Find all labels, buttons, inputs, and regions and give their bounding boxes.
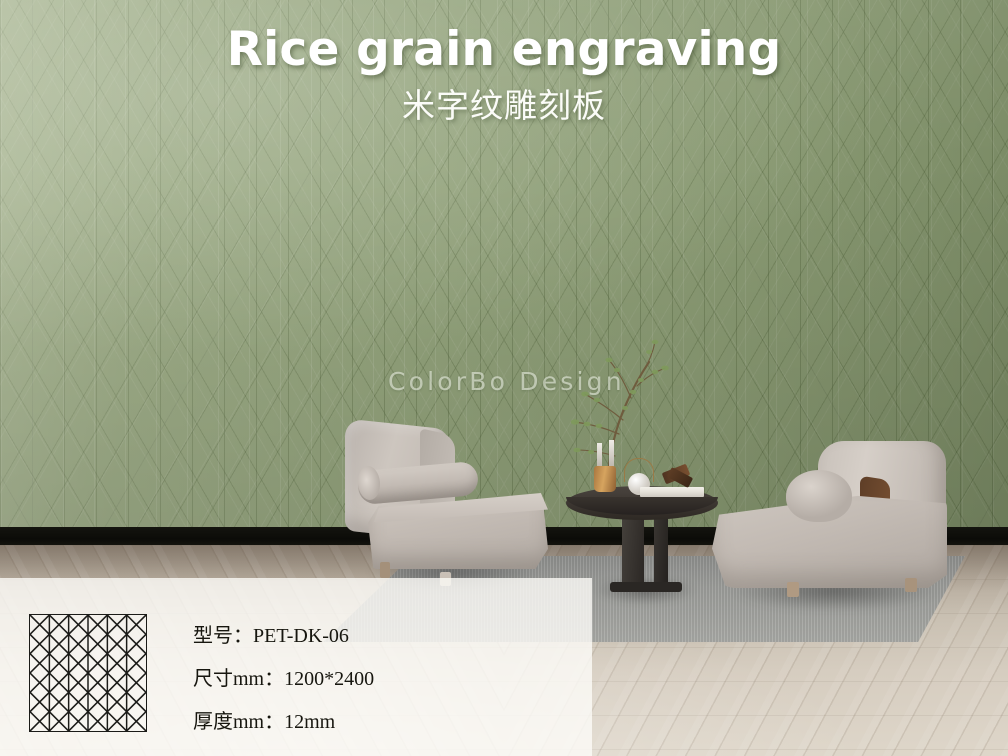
armchair-leg-back bbox=[905, 578, 917, 592]
spec-list: 型号：PET-DK-06 尺寸mm：1200*2400 厚度mm：12mm bbox=[193, 626, 553, 732]
spec-size: 尺寸mm：1200*2400 bbox=[193, 669, 553, 689]
page-title-zh: 米字纹雕刻板 bbox=[0, 79, 1008, 127]
page-title-en: Rice grain engraving bbox=[0, 24, 1008, 77]
branch-plant bbox=[545, 336, 685, 486]
table-base bbox=[610, 582, 682, 592]
armchair-armrest bbox=[786, 470, 852, 522]
brass-vase bbox=[594, 466, 616, 492]
pattern-swatch-grid bbox=[30, 615, 146, 731]
stacked-books bbox=[640, 487, 704, 497]
title-block: Rice grain engraving 米字纹雕刻板 bbox=[0, 24, 1008, 127]
spec-thickness: 厚度mm：12mm bbox=[193, 712, 553, 732]
product-banner: ColorBo Design bbox=[0, 0, 1008, 756]
table-pillar-right bbox=[654, 512, 668, 584]
armchair-leg-front bbox=[787, 582, 799, 597]
candlestick-right bbox=[609, 440, 614, 469]
table-pillar-left bbox=[622, 512, 644, 590]
chaise-leg-front bbox=[380, 562, 390, 578]
pattern-swatch bbox=[29, 614, 147, 732]
spec-model: 型号：PET-DK-06 bbox=[193, 626, 553, 646]
